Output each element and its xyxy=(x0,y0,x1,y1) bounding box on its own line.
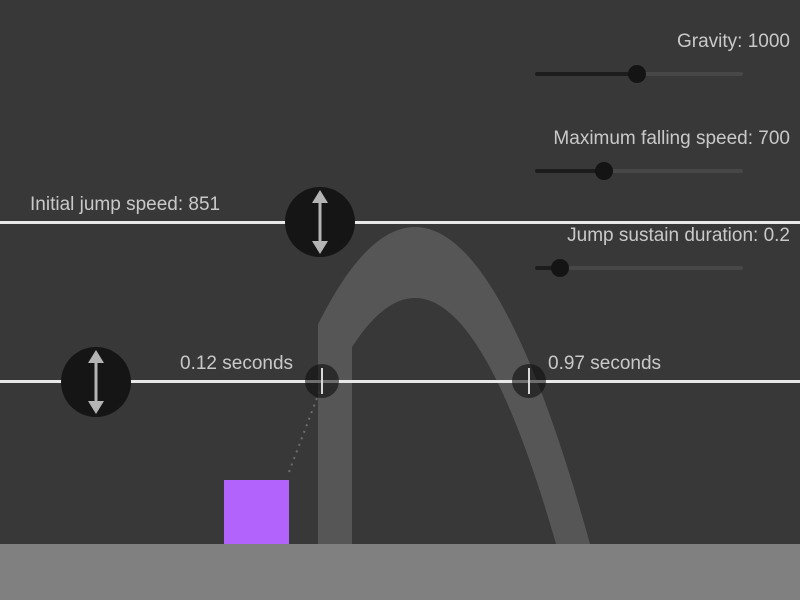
maximum-falling-speed-slider-group: Maximum falling speed: 700 xyxy=(530,129,790,180)
jump-sustain-duration-slider-label: Jump sustain duration: 0.2 xyxy=(530,226,790,245)
jump-sustain-duration-slider-group: Jump sustain duration: 0.2 xyxy=(530,226,790,277)
gravity-slider-label: Gravity: 1000 xyxy=(530,32,790,51)
jump-start-marker[interactable] xyxy=(305,364,339,398)
ground-plane xyxy=(0,544,800,600)
marker-tick-icon xyxy=(528,368,530,394)
vertical-double-arrow-icon xyxy=(311,190,329,254)
marker-tick-icon xyxy=(321,368,323,394)
max-falling-speed-handle[interactable] xyxy=(61,347,131,417)
slider-fill xyxy=(535,72,637,76)
gravity-slider[interactable] xyxy=(535,65,743,83)
player-box[interactable] xyxy=(224,480,289,544)
jump-end-marker[interactable] xyxy=(512,364,546,398)
maximum-falling-speed-slider[interactable] xyxy=(535,162,743,180)
slider-knob[interactable] xyxy=(595,162,613,180)
vertical-double-arrow-icon xyxy=(87,350,105,414)
jump-start-time-label: 0.12 seconds xyxy=(180,354,293,373)
slider-fill xyxy=(535,169,604,173)
trajectory-arc xyxy=(0,0,800,600)
slider-knob[interactable] xyxy=(628,65,646,83)
gravity-slider-group: Gravity: 1000 xyxy=(530,32,790,83)
slider-knob[interactable] xyxy=(551,259,569,277)
jump-tuner-canvas: Initial jump speed: 851 0.12 seconds 0.9… xyxy=(0,0,800,600)
jump-end-time-label: 0.97 seconds xyxy=(548,354,661,373)
maximum-falling-speed-slider-label: Maximum falling speed: 700 xyxy=(530,129,790,148)
initial-jump-speed-label: Initial jump speed: 851 xyxy=(30,195,220,214)
jump-sustain-duration-slider[interactable] xyxy=(535,259,743,277)
apex-guide-line xyxy=(0,221,800,224)
initial-jump-speed-handle[interactable] xyxy=(285,187,355,257)
